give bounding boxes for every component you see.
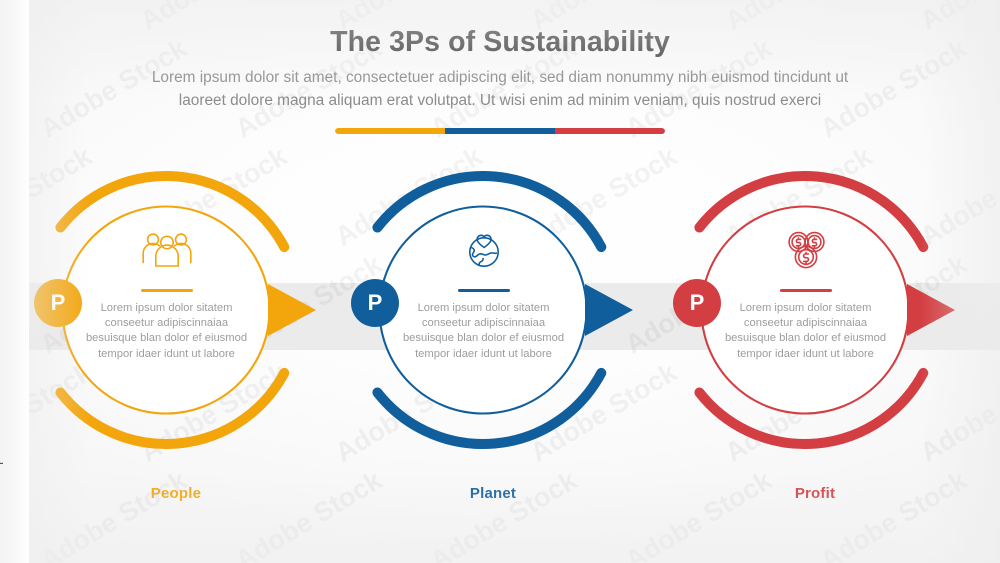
divider-segment-amber [335,128,445,134]
badge-profit[interactable]: P [673,279,721,327]
stock-watermark-sidebar: Adobe Stock | #827184978 [0,0,29,563]
content-disc-profit: Lorem ipsum dolor sitatem conseetur adip… [702,207,909,414]
panel-row: Lorem ipsum dolor sitatem conseetur adip… [0,160,1000,520]
divider-segment-blue [445,128,555,134]
subtitle-line-1: Lorem ipsum dolor sit amet, consectetuer… [70,67,930,89]
panel-body-text-people: Lorem ipsum dolor sitatem conseetur adip… [79,301,255,362]
content-disc-people: Lorem ipsum dolor sitatem conseetur adip… [63,207,270,414]
accent-divider-bar [335,128,665,134]
money-coins-icon [778,227,834,273]
page-title: The 3Ps of Sustainability [0,0,1000,58]
caption-people: People [16,485,336,502]
caption-profit: Profit [655,485,975,502]
caption-planet: Planet [333,485,653,502]
content-disc-planet: Lorem ipsum dolor sitatem conseetur adip… [380,207,587,414]
stock-watermark-text: Adobe Stock | #827184978 [0,379,3,549]
header: The 3Ps of Sustainability Lorem ipsum do… [0,0,1000,112]
panel-profit[interactable]: Lorem ipsum dolor sitatem conseetur adip… [655,160,975,520]
badge-planet[interactable]: P [351,279,399,327]
infographic-canvas: Adobe StockAdobe StockAdobe StockAdobe S… [0,0,1000,563]
panel-planet[interactable]: Lorem ipsum dolor sitatem conseetur adip… [333,160,653,520]
page-subtitle: Lorem ipsum dolor sit amet, consectetuer… [70,58,930,112]
people-group-icon [139,227,195,273]
subtitle-line-2: laoreet dolore magna aliquam erat volutp… [70,90,930,112]
divider-rule-profit [780,289,832,292]
panel-people[interactable]: Lorem ipsum dolor sitatem conseetur adip… [16,160,336,520]
divider-segment-red [555,128,665,134]
badge-people[interactable]: P [34,279,82,327]
divider-rule-people [141,289,193,292]
panel-body-text-planet: Lorem ipsum dolor sitatem conseetur adip… [396,301,572,362]
divider-rule-planet [458,289,510,292]
panel-body-text-profit: Lorem ipsum dolor sitatem conseetur adip… [718,301,894,362]
earth-heart-icon [456,227,512,273]
